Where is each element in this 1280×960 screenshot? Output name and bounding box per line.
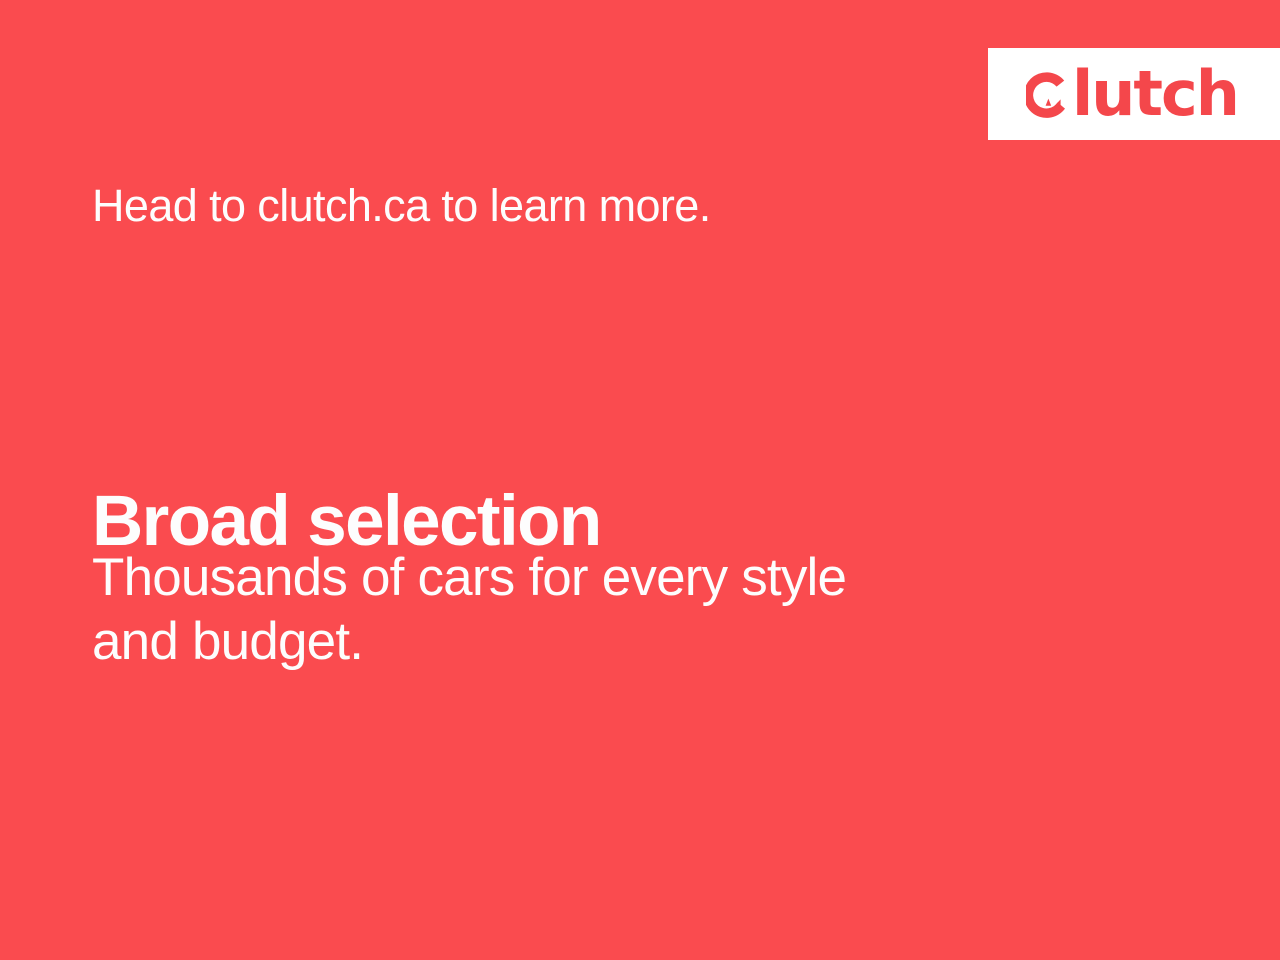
clutch-c-mark-icon (1026, 68, 1070, 120)
brand-logo-plate: lutch (988, 48, 1280, 140)
subtitle-line-1: Thousands of cars for every style (92, 546, 1052, 610)
promo-slide: lutch Head to clutch.ca to learn more. B… (0, 0, 1280, 960)
logo-wordmark: lutch (1072, 68, 1238, 120)
subtitle-line-2: and budget. (92, 610, 1052, 674)
clutch-logo[interactable]: lutch (1026, 68, 1238, 121)
subtitle-text: Thousands of cars for every style and bu… (92, 546, 1052, 673)
eyebrow-text: Head to clutch.ca to learn more. (92, 182, 711, 229)
